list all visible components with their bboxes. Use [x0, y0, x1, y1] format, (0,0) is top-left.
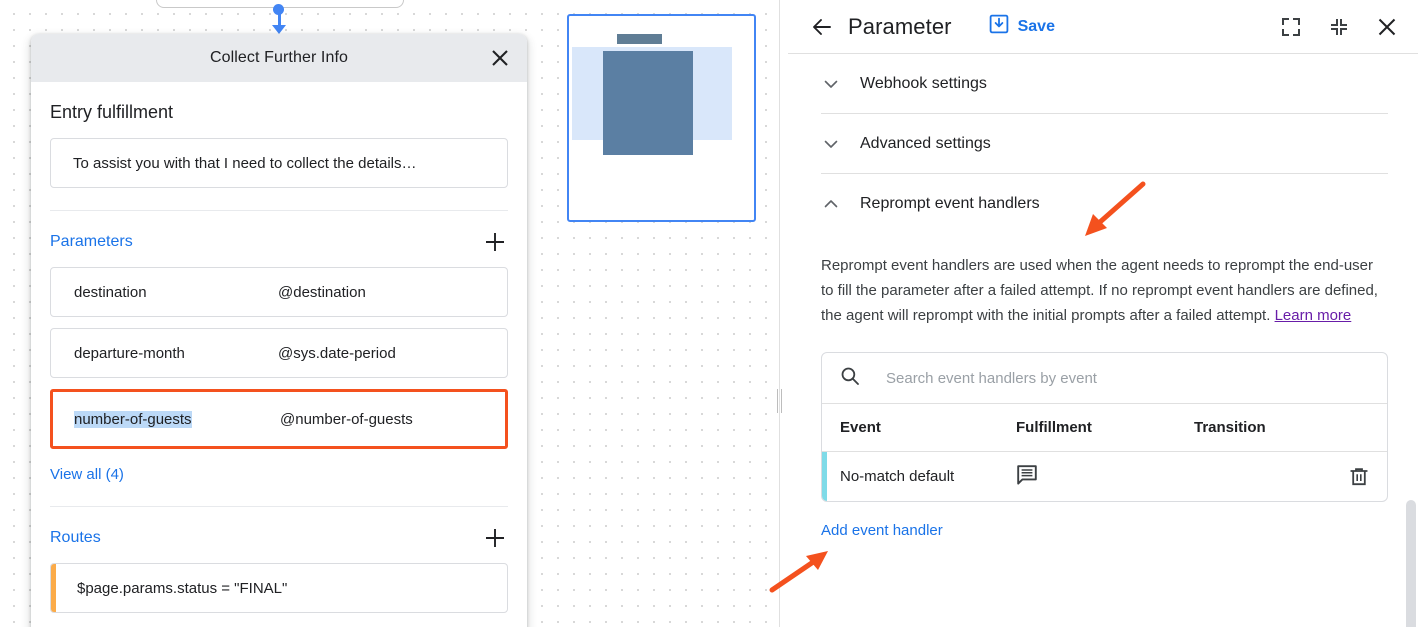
- column-header-event: Event: [840, 419, 1016, 436]
- entry-fulfillment-heading: Entry fulfillment: [50, 102, 508, 123]
- column-header-transition: Transition: [1194, 419, 1387, 436]
- add-event-handler-link[interactable]: Add event handler: [821, 522, 943, 539]
- column-header-fulfillment: Fulfillment: [1016, 419, 1194, 436]
- parameter-name: departure-month: [51, 345, 278, 362]
- page-title: Collect Further Info: [210, 49, 348, 67]
- thumbnail-block: [603, 51, 693, 155]
- arrow-left-icon[interactable]: [808, 13, 836, 41]
- save-icon: [989, 14, 1009, 39]
- routes-label[interactable]: Routes: [50, 529, 101, 547]
- save-label: Save: [1018, 18, 1055, 36]
- message-icon[interactable]: [1016, 464, 1194, 490]
- search-icon: [840, 366, 860, 391]
- cell-event: No-match default: [840, 468, 1016, 485]
- section-webhook-settings[interactable]: Webhook settings: [821, 54, 1388, 113]
- reprompt-description: Reprompt event handlers are used when th…: [821, 253, 1388, 328]
- panel-scrollbar[interactable]: [1404, 53, 1418, 627]
- table-row[interactable]: destination @destination: [50, 267, 508, 317]
- parameter-panel: Parameter Save: [788, 0, 1418, 627]
- section-label: Webhook settings: [860, 75, 987, 93]
- event-handlers-card: Event Fulfillment Transition No-match de…: [821, 352, 1388, 502]
- divider: [50, 210, 508, 211]
- row-status-bar: [822, 452, 827, 501]
- plus-icon[interactable]: [482, 229, 508, 255]
- flow-canvas[interactable]: Collect Further Info Entry fulfillment T…: [0, 0, 779, 627]
- page-card: Collect Further Info Entry fulfillment T…: [31, 34, 527, 627]
- scrollbar-thumb[interactable]: [1406, 500, 1416, 627]
- plus-icon[interactable]: [482, 525, 508, 551]
- chevron-up-icon: [821, 194, 841, 214]
- section-reprompt-event-handlers[interactable]: Reprompt event handlers: [821, 174, 1388, 233]
- parameter-name: number-of-guests: [53, 411, 280, 428]
- parameter-name-text: number-of-guests: [74, 411, 192, 428]
- route-condition: $page.params.status = "FINAL": [56, 580, 287, 597]
- trash-icon[interactable]: [1347, 465, 1371, 489]
- entry-fulfillment-message[interactable]: To assist you with that I need to collec…: [50, 138, 508, 188]
- section-label: Reprompt event handlers: [860, 195, 1040, 213]
- table-row-selected[interactable]: number-of-guests @number-of-guests: [50, 389, 508, 449]
- close-icon[interactable]: [1374, 14, 1400, 40]
- parameters-section-header: Parameters: [50, 228, 508, 256]
- thumbnail-bar: [617, 34, 662, 44]
- parameter-name: destination: [51, 284, 278, 301]
- panel-title: Parameter: [848, 14, 952, 40]
- panel-header-actions: [1278, 14, 1400, 40]
- page-card-body: Entry fulfillment To assist you with tha…: [31, 102, 527, 627]
- parameter-type: @sys.date-period: [278, 345, 396, 362]
- splitter-grip[interactable]: [776, 389, 784, 413]
- close-icon[interactable]: [487, 45, 513, 71]
- panel-body: Webhook settings Advanced settings: [788, 54, 1418, 540]
- parameter-type: @destination: [278, 284, 366, 301]
- view-all-parameters-link[interactable]: View all (4): [50, 466, 124, 483]
- parameter-type: @number-of-guests: [280, 411, 413, 428]
- routes-section-header: Routes: [50, 524, 508, 552]
- save-button[interactable]: Save: [989, 14, 1055, 39]
- chevron-down-icon: [821, 134, 841, 154]
- table-row[interactable]: No-match default: [822, 452, 1387, 501]
- divider: [50, 506, 508, 507]
- connector-arrow-icon: [272, 25, 286, 34]
- fullscreen-expand-icon[interactable]: [1278, 14, 1304, 40]
- parameters-label[interactable]: Parameters: [50, 233, 133, 251]
- learn-more-link[interactable]: Learn more: [1275, 307, 1352, 324]
- panel-header: Parameter Save: [788, 0, 1418, 54]
- section-label: Advanced settings: [860, 135, 991, 153]
- search-bar[interactable]: [822, 353, 1387, 404]
- app-root: Collect Further Info Entry fulfillment T…: [0, 0, 1418, 627]
- table-header: Event Fulfillment Transition: [822, 404, 1387, 452]
- page-card-header: Collect Further Info: [31, 34, 527, 82]
- section-advanced-settings[interactable]: Advanced settings: [821, 114, 1388, 173]
- fullscreen-collapse-icon[interactable]: [1326, 14, 1352, 40]
- chevron-down-icon: [821, 74, 841, 94]
- route-row[interactable]: $page.params.status = "FINAL": [50, 563, 508, 613]
- table-row[interactable]: departure-month @sys.date-period: [50, 328, 508, 378]
- page-thumbnail-node[interactable]: [567, 14, 756, 222]
- search-input[interactable]: [884, 369, 1368, 388]
